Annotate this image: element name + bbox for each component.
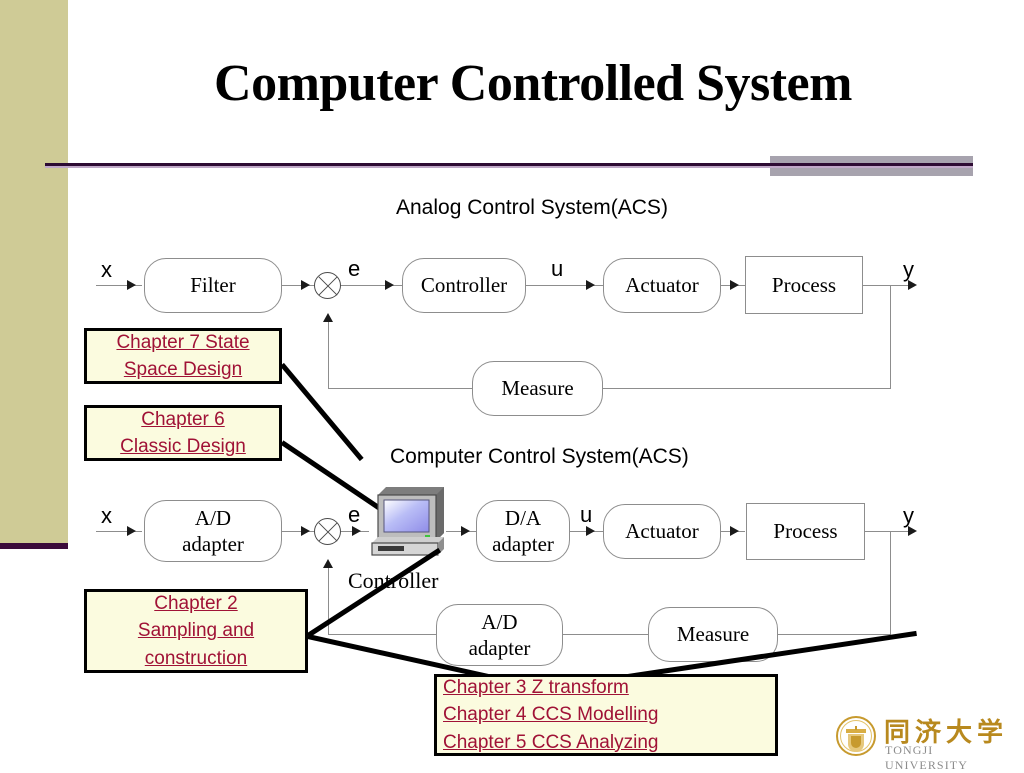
arrowhead-into-ad-adapter	[127, 526, 136, 536]
arrowhead-into-sum-feedback-computer	[323, 559, 333, 568]
block-ad-adapter-input: A/D adapter	[144, 500, 282, 562]
wire-feedback-left-computer	[328, 634, 436, 635]
callout-chapter-2[interactable]: Chapter 2 Sampling and construction	[84, 589, 308, 673]
logo-english-name: TONGJI UNIVERSITY	[885, 743, 1016, 773]
callout-chapter-3-4-5[interactable]: Chapter 3 Z transform Chapter 4 CCS Mode…	[434, 674, 778, 756]
callout-chapter-2-line-3: construction	[93, 645, 299, 672]
page-title: Computer Controlled System	[68, 55, 998, 112]
arrowhead-into-computer-controller	[352, 526, 361, 536]
arrowhead-into-sum-analog	[301, 280, 310, 290]
block-measure-label: Measure	[501, 375, 573, 401]
wire-measure-to-ad-feedback	[563, 634, 648, 635]
wire-feedback-up-analog	[328, 320, 329, 388]
wire-feedback-right-of-measure-computer	[778, 634, 891, 635]
block-ad-adapter-input-line-2: adapter	[182, 531, 244, 557]
arrowhead-into-actuator-computer	[586, 526, 595, 536]
signal-label-e-computer: e	[348, 502, 360, 528]
block-filter-label: Filter	[190, 272, 236, 298]
block-controller-analog: Controller	[402, 258, 526, 313]
signal-label-y-computer: y	[903, 503, 914, 529]
block-process-label: Process	[772, 272, 836, 298]
signal-label-e-analog: e	[348, 256, 360, 282]
slide-canvas: Computer Controlled System Analog Contro…	[0, 0, 1024, 768]
arrowhead-into-process-analog	[730, 280, 739, 290]
block-filter: Filter	[144, 258, 282, 313]
left-band-foot	[0, 543, 68, 549]
tongji-university-logo: 同济大学 TONGJI UNIVERSITY	[836, 714, 1016, 760]
title-rule-light	[45, 166, 973, 168]
section-caption-analog: Analog Control System(ACS)	[396, 196, 668, 220]
arrowhead-into-filter	[127, 280, 136, 290]
callout-chapter-7-line-2: Space Design	[93, 356, 273, 383]
block-da-adapter-line-2: adapter	[492, 531, 554, 557]
tongji-emblem-icon	[836, 716, 876, 756]
signal-label-x-analog: x	[101, 257, 112, 283]
block-ad-adapter-feedback: A/D adapter	[436, 604, 563, 666]
callout-chapter-6[interactable]: Chapter 6 Classic Design	[84, 405, 282, 461]
left-decorative-band	[0, 0, 68, 543]
signal-label-y-analog: y	[903, 257, 914, 283]
callout-chapter-3-label: Chapter 3 Z transform	[443, 674, 769, 701]
signal-label-u-analog: u	[551, 256, 563, 282]
block-actuator-label: Actuator	[625, 272, 698, 298]
arrowhead-into-sum-computer	[301, 526, 310, 536]
signal-label-u-computer: u	[580, 502, 592, 528]
arrowhead-into-actuator-analog	[586, 280, 595, 290]
arrowhead-into-process-computer	[730, 526, 739, 536]
block-da-adapter-line-1: D/A	[505, 505, 541, 531]
signal-label-x-computer: x	[101, 503, 112, 529]
block-da-adapter: D/A adapter	[476, 500, 570, 562]
arrowhead-into-controller	[385, 280, 394, 290]
wire-feedback-down-analog	[890, 285, 891, 388]
callout-chapter-2-line-1: Chapter 2	[93, 590, 299, 617]
summing-junction-analog	[314, 272, 341, 299]
computer-controller-icon	[366, 481, 446, 559]
wire-process-to-y-computer	[865, 531, 913, 532]
block-ad-adapter-input-line-1: A/D	[195, 505, 231, 531]
wire-process-to-y	[863, 285, 913, 286]
callout-chapter-7-line-1: Chapter 7 State	[93, 329, 273, 356]
wire-feedback-left-of-measure	[328, 388, 472, 389]
block-actuator-computer: Actuator	[603, 504, 721, 559]
callout-chapter-5-label: Chapter 5 CCS Analyzing	[443, 729, 769, 756]
block-process-computer: Process	[746, 503, 865, 560]
block-measure-analog: Measure	[472, 361, 603, 416]
block-actuator-computer-label: Actuator	[625, 518, 698, 544]
block-ad-adapter-feedback-line-2: adapter	[469, 635, 531, 661]
callout-chapter-6-line-1: Chapter 6	[93, 406, 273, 433]
block-actuator-analog: Actuator	[603, 258, 721, 313]
block-measure-computer-label: Measure	[677, 621, 749, 647]
summing-junction-computer	[314, 518, 341, 545]
callout-chapter-4-label: Chapter 4 CCS Modelling	[443, 701, 769, 728]
wire-feedback-right-of-measure	[603, 388, 891, 389]
section-caption-computer: Computer Control System(ACS)	[390, 445, 689, 469]
block-process-computer-label: Process	[773, 518, 837, 544]
block-process-analog: Process	[745, 256, 863, 314]
block-ad-adapter-feedback-line-1: A/D	[481, 609, 517, 635]
callout-chapter-2-line-2: Sampling and	[93, 617, 299, 644]
block-controller-label: Controller	[421, 272, 507, 298]
arrowhead-into-da-adapter	[461, 526, 470, 536]
arrowhead-into-sum-feedback-analog	[323, 313, 333, 322]
wire-feedback-down-computer	[890, 531, 891, 634]
callout-chapter-6-line-2: Classic Design	[93, 433, 273, 460]
callout-chapter-7[interactable]: Chapter 7 State Space Design	[84, 328, 282, 384]
